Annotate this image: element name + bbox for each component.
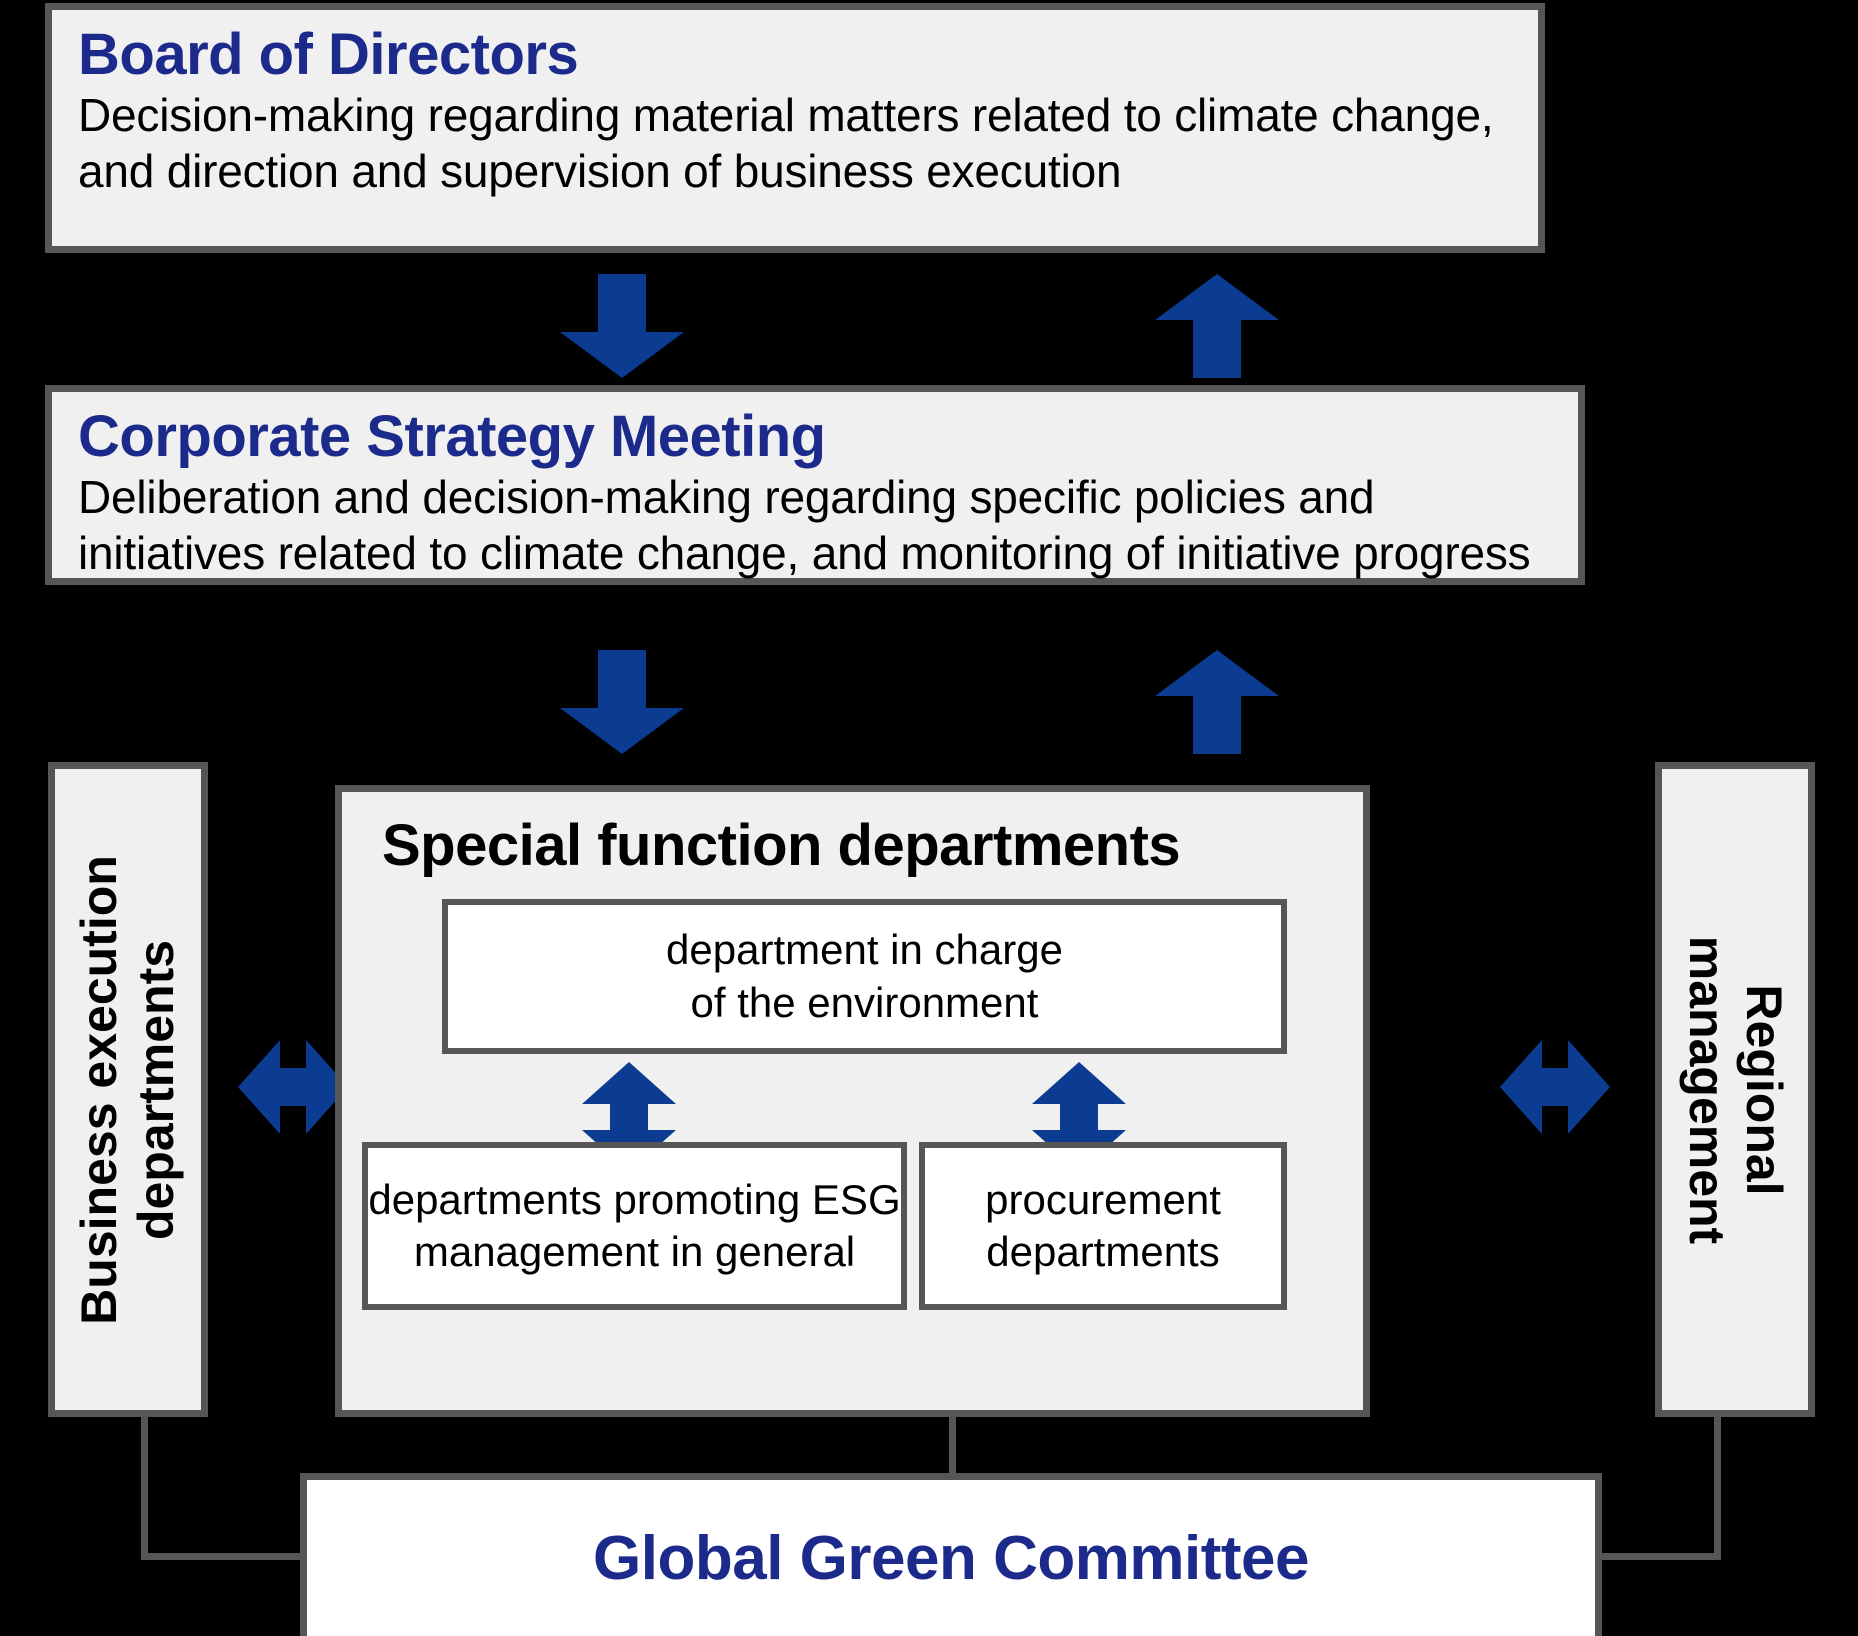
business-execution-label: Business execution departments xyxy=(71,770,185,1410)
arrow-left-right-sfd-regional xyxy=(1500,1040,1610,1134)
board-description-line-2: and direction and supervision of busines… xyxy=(78,143,1516,199)
arrow-left-right-icon xyxy=(238,1040,348,1134)
business-execution-departments-box: Business execution departments xyxy=(48,762,208,1417)
connector-business-horizontal xyxy=(141,1553,307,1560)
regional-management-box: Regional management xyxy=(1655,762,1815,1417)
special-function-departments-box: Special function departments department … xyxy=(335,785,1370,1417)
governance-diagram: Board of Directors Decision-making regar… xyxy=(0,0,1858,1636)
arrow-up-icon xyxy=(1155,650,1279,754)
arrow-down-board-to-csm xyxy=(560,274,684,378)
procurement-departments-label: procurement departments xyxy=(985,1174,1221,1278)
connector-sfd-vertical xyxy=(949,1417,956,1477)
csm-title: Corporate Strategy Meeting xyxy=(78,406,1556,469)
global-green-committee-box: Global Green Committee xyxy=(300,1473,1602,1636)
csm-description: Deliberation and decision-making regardi… xyxy=(78,469,1556,581)
arrow-down-csm-to-sfd xyxy=(560,650,684,754)
board-title: Board of Directors xyxy=(78,24,1516,87)
esg-departments-box: departments promoting ESG management in … xyxy=(362,1142,907,1310)
esg-departments-label: departments promoting ESG management in … xyxy=(368,1174,900,1278)
arrow-up-sfd-to-csm xyxy=(1155,650,1279,754)
board-description-line-1: Decision-making regarding material matte… xyxy=(78,87,1516,143)
procurement-departments-box: procurement departments xyxy=(919,1142,1287,1310)
connector-regional-horizontal xyxy=(1596,1553,1721,1560)
corporate-strategy-meeting-box: Corporate Strategy Meeting Deliberation … xyxy=(45,385,1585,585)
connector-business-vertical xyxy=(141,1417,148,1560)
csm-description-line-1: Deliberation and decision-making regardi… xyxy=(78,469,1556,525)
environment-department-box: department in charge of the environment xyxy=(442,899,1287,1054)
global-green-committee-title: Global Green Committee xyxy=(593,1523,1309,1594)
environment-department-label: department in charge of the environment xyxy=(666,924,1063,1028)
arrow-left-right-icon xyxy=(1500,1040,1610,1134)
board-of-directors-box: Board of Directors Decision-making regar… xyxy=(45,3,1545,253)
arrow-down-icon xyxy=(560,650,684,754)
regional-management-label: Regional management xyxy=(1678,770,1792,1410)
arrow-up-icon xyxy=(1155,274,1279,378)
arrow-left-right-business-sfd xyxy=(238,1040,348,1134)
special-function-departments-title: Special function departments xyxy=(382,814,1180,878)
arrow-down-icon xyxy=(560,274,684,378)
connector-regional-vertical xyxy=(1714,1417,1721,1560)
csm-description-line-2: initiatives related to climate change, a… xyxy=(78,525,1556,581)
board-description: Decision-making regarding material matte… xyxy=(78,87,1516,199)
arrow-up-csm-to-board xyxy=(1155,274,1279,378)
